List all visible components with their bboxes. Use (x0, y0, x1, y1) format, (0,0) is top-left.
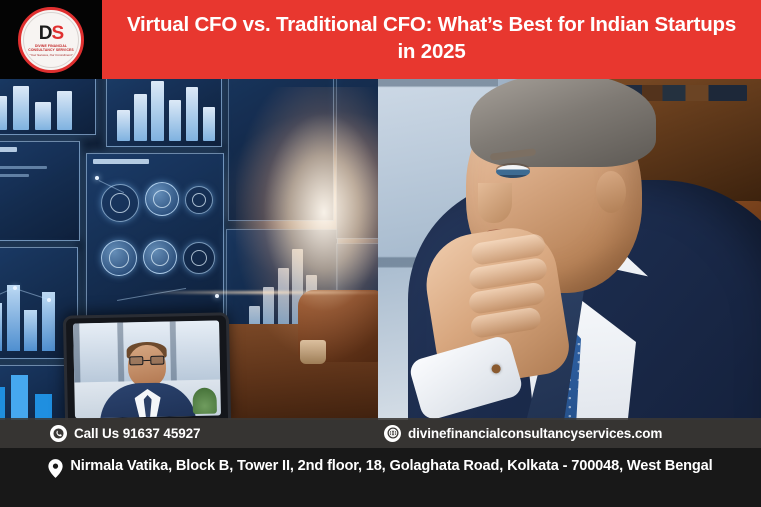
logo-tagline: "Your Success, Our Commitment" (29, 54, 72, 58)
banner-title: Virtual CFO vs. Traditional CFO: What’s … (120, 12, 743, 64)
office-plant (192, 388, 217, 414)
video-call-person-face (127, 344, 166, 387)
dashboard-panel (228, 79, 334, 221)
logo-monogram-d: D (39, 23, 52, 44)
light-streak (140, 291, 378, 294)
logo-panel: DS DIVINE FINANCIAL CONSULTANCY SERVICES… (0, 0, 102, 79)
phone-contact[interactable]: Call Us 91637 45927 (0, 418, 378, 448)
logo-monogram-s: S (52, 23, 64, 44)
company-logo-badge: DS DIVINE FINANCIAL CONSULTANCY SERVICES… (18, 7, 84, 73)
laptop-screen (73, 320, 221, 418)
location-pin-icon (48, 459, 63, 483)
desk-cup (300, 340, 326, 364)
website-contact[interactable]: divinefinancialconsultancyservices.com (378, 418, 761, 448)
hero-left-dashboard-photo (0, 79, 378, 420)
glasses-icon (129, 356, 164, 366)
contact-bar: Call Us 91637 45927 divinefinancialconsu… (0, 418, 761, 448)
hero-right-executive-photo (378, 79, 761, 420)
address-bar: Nirmala Vatika, Block B, Tower II, 2nd f… (0, 448, 761, 507)
dashboard-panel (106, 79, 222, 147)
address-text: Nirmala Vatika, Block B, Tower II, 2nd f… (70, 456, 712, 477)
dashboard-panel (336, 79, 378, 239)
executive-nose (478, 183, 512, 223)
title-panel: Virtual CFO vs. Traditional CFO: What’s … (102, 0, 761, 79)
social-media-banner: DS DIVINE FINANCIAL CONSULTANCY SERVICES… (0, 0, 761, 507)
dashboard-panel (0, 79, 96, 135)
executive-ear (596, 171, 626, 213)
logo-monogram: DS (39, 24, 63, 43)
website-label: divinefinancialconsultancyservices.com (408, 426, 662, 441)
phone-icon (50, 425, 67, 442)
hero-image (0, 79, 761, 420)
phone-label: Call Us 91637 45927 (74, 426, 200, 441)
executive-eye (496, 165, 530, 178)
globe-icon (384, 425, 401, 442)
laptop-video-call (63, 312, 231, 420)
dashboard-panel (0, 141, 80, 241)
dashboard-panel-kpi-grid (86, 153, 224, 323)
logo-company-name: DIVINE FINANCIAL CONSULTANCY SERVICES (22, 44, 80, 53)
banner-header: DS DIVINE FINANCIAL CONSULTANCY SERVICES… (0, 0, 761, 79)
